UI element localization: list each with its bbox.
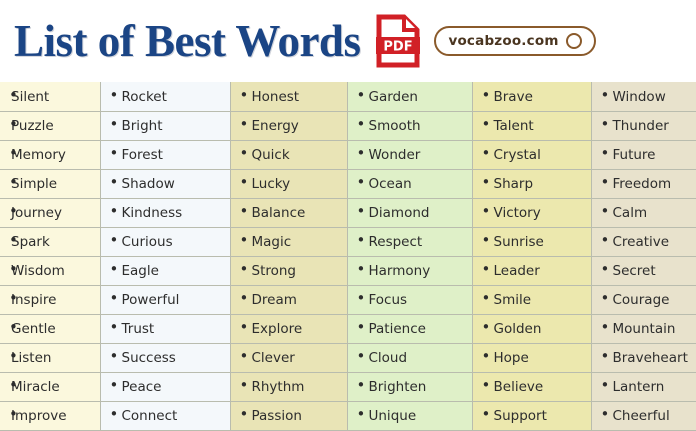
bullet-icon: •: [482, 291, 494, 306]
bullet-icon: •: [601, 146, 613, 161]
word-cell: •Sunrise: [472, 227, 591, 256]
word-label: Calm: [613, 205, 648, 221]
table-row: •Puzzle•Bright•Energy•Smooth•Talent•Thun…: [0, 111, 696, 140]
word-label: Bright: [122, 118, 163, 134]
bullet-icon: •: [482, 204, 494, 219]
word-cell: •Magic: [230, 227, 347, 256]
word-label: Hope: [494, 350, 529, 366]
bullet-icon: •: [110, 291, 122, 306]
word-cell: •Harmony: [347, 256, 472, 285]
word-label: Thunder: [613, 118, 669, 134]
word-label: Ocean: [369, 176, 412, 192]
word-label: Clever: [252, 350, 295, 366]
word-cell: •Smooth: [347, 111, 472, 140]
bullet-icon: •: [601, 233, 613, 248]
word-label: Talent: [494, 118, 534, 134]
bullet-icon: •: [357, 291, 369, 306]
word-cell: •Sharp: [472, 169, 591, 198]
bullet-icon: •: [240, 349, 252, 364]
word-cell: •Courage: [591, 285, 696, 314]
bullet-icon: •: [110, 117, 122, 132]
bullet-icon: •: [601, 291, 613, 306]
bullet-icon: •: [110, 320, 122, 335]
word-cell: •Smile: [472, 285, 591, 314]
word-label: Curious: [122, 234, 173, 250]
word-cell: •Explore: [230, 314, 347, 343]
bullet-icon: •: [110, 146, 122, 161]
word-label: Patience: [369, 321, 426, 337]
word-label: Improve: [11, 408, 67, 424]
word-label: Puzzle: [11, 118, 54, 134]
word-label: Crystal: [494, 147, 541, 163]
word-cell: •Thunder: [591, 111, 696, 140]
word-label: Rhythm: [252, 379, 305, 395]
word-cell: •Rocket: [100, 82, 230, 111]
word-cell: •Window: [591, 82, 696, 111]
word-label: Success: [122, 350, 176, 366]
page-header: List of Best Words PDF vocabzoo.com: [0, 0, 696, 82]
word-label: Rocket: [122, 89, 167, 105]
word-cell: •Calm: [591, 198, 696, 227]
word-label: Trust: [122, 321, 155, 337]
word-label: Lantern: [613, 379, 665, 395]
word-cell: •Rhythm: [230, 372, 347, 401]
word-cell: •Journey: [0, 198, 100, 227]
bullet-icon: •: [110, 349, 122, 364]
word-label: Unique: [369, 408, 417, 424]
word-cell: •Ocean: [347, 169, 472, 198]
bullet-icon: •: [240, 320, 252, 335]
bullet-icon: •: [357, 262, 369, 277]
word-cell: •Hope: [472, 343, 591, 372]
word-cell: •Energy: [230, 111, 347, 140]
bullet-icon: •: [601, 378, 613, 393]
word-label: Diamond: [369, 205, 430, 221]
word-cell: •Brave: [472, 82, 591, 111]
word-cell: •Lucky: [230, 169, 347, 198]
word-label: Passion: [252, 408, 302, 424]
word-cell: •Forest: [100, 140, 230, 169]
table-row: •Improve•Connect•Passion•Unique•Support•…: [0, 401, 696, 430]
word-label: Focus: [369, 292, 408, 308]
word-cell: •Eagle: [100, 256, 230, 285]
bullet-icon: •: [601, 175, 613, 190]
word-label: Secret: [613, 263, 656, 279]
word-cell: •Puzzle: [0, 111, 100, 140]
word-label: Journey: [11, 205, 62, 221]
bullet-icon: •: [240, 407, 252, 422]
word-label: Cloud: [369, 350, 408, 366]
word-cell: •Balance: [230, 198, 347, 227]
bullet-icon: •: [240, 204, 252, 219]
word-label: Silent: [11, 89, 49, 105]
word-cell: •Curious: [100, 227, 230, 256]
word-label: Powerful: [122, 292, 180, 308]
bullet-icon: •: [601, 117, 613, 132]
words-table-body: •Silent•Rocket•Honest•Garden•Brave•Windo…: [0, 82, 696, 430]
bullet-icon: •: [240, 117, 252, 132]
bullet-icon: •: [601, 320, 613, 335]
word-cell: •Creative: [591, 227, 696, 256]
bullet-icon: •: [240, 291, 252, 306]
word-cell: •Crystal: [472, 140, 591, 169]
word-label: Support: [494, 408, 547, 424]
bullet-icon: •: [357, 146, 369, 161]
word-cell: •Cloud: [347, 343, 472, 372]
bullet-icon: •: [240, 233, 252, 248]
word-cell: •Improve: [0, 401, 100, 430]
word-label: Smile: [494, 292, 532, 308]
word-cell: •Silent: [0, 82, 100, 111]
brand-badge[interactable]: vocabzoo.com: [434, 26, 595, 56]
word-label: Harmony: [369, 263, 431, 279]
table-row: •Listen•Success•Clever•Cloud•Hope•Braveh…: [0, 343, 696, 372]
pdf-badge-label: PDF: [384, 40, 413, 55]
word-label: Respect: [369, 234, 423, 250]
word-cell: •Freedom: [591, 169, 696, 198]
word-cell: •Believe: [472, 372, 591, 401]
word-label: Listen: [11, 350, 51, 366]
page-title: List of Best Words: [14, 19, 360, 64]
word-label: Garden: [369, 89, 418, 105]
word-cell: •Bright: [100, 111, 230, 140]
bullet-icon: •: [240, 175, 252, 190]
word-cell: •Peace: [100, 372, 230, 401]
word-label: Connect: [122, 408, 178, 424]
table-row: •Silent•Rocket•Honest•Garden•Brave•Windo…: [0, 82, 696, 111]
bullet-icon: •: [357, 349, 369, 364]
bullet-icon: •: [110, 88, 122, 103]
bullet-icon: •: [482, 88, 494, 103]
bullet-icon: •: [110, 233, 122, 248]
word-label: Victory: [494, 205, 541, 221]
bullet-icon: •: [482, 233, 494, 248]
word-label: Mountain: [613, 321, 676, 337]
word-cell: •Future: [591, 140, 696, 169]
word-cell: •Wisdom: [0, 256, 100, 285]
word-label: Window: [613, 89, 666, 105]
word-cell: •Victory: [472, 198, 591, 227]
table-row: •Memory•Forest•Quick•Wonder•Crystal•Futu…: [0, 140, 696, 169]
bullet-icon: •: [240, 262, 252, 277]
bullet-icon: •: [357, 320, 369, 335]
word-cell: •Kindness: [100, 198, 230, 227]
bullet-icon: •: [357, 378, 369, 393]
word-cell: •Patience: [347, 314, 472, 343]
word-label: Braveheart: [613, 350, 688, 366]
word-label: Kindness: [122, 205, 183, 221]
word-cell: •Golden: [472, 314, 591, 343]
word-cell: •Lantern: [591, 372, 696, 401]
word-cell: •Wonder: [347, 140, 472, 169]
word-cell: •Garden: [347, 82, 472, 111]
word-label: Brave: [494, 89, 533, 105]
word-label: Wisdom: [11, 263, 65, 279]
word-cell: •Connect: [100, 401, 230, 430]
pdf-file-icon[interactable]: PDF: [376, 14, 420, 68]
table-row: •Journey•Kindness•Balance•Diamond•Victor…: [0, 198, 696, 227]
bullet-icon: •: [357, 175, 369, 190]
word-cell: •Brighten: [347, 372, 472, 401]
word-label: Balance: [252, 205, 306, 221]
word-cell: •Spark: [0, 227, 100, 256]
word-cell: •Clever: [230, 343, 347, 372]
word-cell: •Secret: [591, 256, 696, 285]
word-label: Wonder: [369, 147, 421, 163]
word-label: Smooth: [369, 118, 421, 134]
word-cell: •Memory: [0, 140, 100, 169]
word-label: Golden: [494, 321, 542, 337]
word-label: Courage: [613, 292, 670, 308]
word-cell: •Mountain: [591, 314, 696, 343]
word-label: Dream: [252, 292, 297, 308]
word-cell: •Powerful: [100, 285, 230, 314]
word-cell: •Focus: [347, 285, 472, 314]
bullet-icon: •: [110, 378, 122, 393]
word-cell: •Respect: [347, 227, 472, 256]
word-label: Gentle: [11, 321, 56, 337]
word-label: Peace: [122, 379, 162, 395]
table-row: •Simple•Shadow•Lucky•Ocean•Sharp•Freedom: [0, 169, 696, 198]
bullet-icon: •: [110, 204, 122, 219]
bullet-icon: •: [357, 204, 369, 219]
bullet-icon: •: [601, 407, 613, 422]
bullet-icon: •: [482, 320, 494, 335]
bullet-icon: •: [357, 117, 369, 132]
word-cell: •Shadow: [100, 169, 230, 198]
word-label: Shadow: [122, 176, 175, 192]
bullet-icon: •: [357, 233, 369, 248]
word-cell: •Braveheart: [591, 343, 696, 372]
table-row: •Spark•Curious•Magic•Respect•Sunrise•Cre…: [0, 227, 696, 256]
word-label: Future: [613, 147, 656, 163]
word-cell: •Listen: [0, 343, 100, 372]
word-label: Freedom: [613, 176, 672, 192]
word-cell: •Quick: [230, 140, 347, 169]
word-cell: •Strong: [230, 256, 347, 285]
words-table: •Silent•Rocket•Honest•Garden•Brave•Windo…: [0, 82, 696, 431]
table-row: •Gentle•Trust•Explore•Patience•Golden•Mo…: [0, 314, 696, 343]
word-label: Leader: [494, 263, 540, 279]
brand-label: vocabzoo.com: [448, 33, 558, 49]
bullet-icon: •: [240, 88, 252, 103]
word-label: Brighten: [369, 379, 427, 395]
word-cell: •Support: [472, 401, 591, 430]
word-cell: •Dream: [230, 285, 347, 314]
table-row: •Miracle•Peace•Rhythm•Brighten•Believe•L…: [0, 372, 696, 401]
word-label: Creative: [613, 234, 670, 250]
word-label: Honest: [252, 89, 300, 105]
word-label: Miracle: [11, 379, 60, 395]
table-row: •Wisdom•Eagle•Strong•Harmony•Leader•Secr…: [0, 256, 696, 285]
word-label: Memory: [11, 147, 66, 163]
bullet-icon: •: [357, 88, 369, 103]
bullet-icon: •: [240, 146, 252, 161]
word-cell: •Honest: [230, 82, 347, 111]
word-label: Inspire: [11, 292, 56, 308]
bullet-icon: •: [110, 407, 122, 422]
word-label: Forest: [122, 147, 163, 163]
bullet-icon: •: [357, 407, 369, 422]
word-label: Explore: [252, 321, 303, 337]
bullet-icon: •: [482, 146, 494, 161]
bullet-icon: •: [601, 88, 613, 103]
word-label: Spark: [11, 234, 50, 250]
word-label: Magic: [252, 234, 292, 250]
bullet-icon: •: [110, 262, 122, 277]
word-cell: •Unique: [347, 401, 472, 430]
word-label: Strong: [252, 263, 297, 279]
word-cell: •Leader: [472, 256, 591, 285]
word-cell: •Miracle: [0, 372, 100, 401]
bullet-icon: •: [482, 262, 494, 277]
table-row: •Inspire•Powerful•Dream•Focus•Smile•Cour…: [0, 285, 696, 314]
bullet-icon: •: [601, 349, 613, 364]
word-label: Eagle: [122, 263, 159, 279]
word-cell: •Trust: [100, 314, 230, 343]
word-cell: •Simple: [0, 169, 100, 198]
word-label: Energy: [252, 118, 299, 134]
bullet-icon: •: [482, 407, 494, 422]
word-cell: •Talent: [472, 111, 591, 140]
bullet-icon: •: [482, 349, 494, 364]
bullet-icon: •: [601, 262, 613, 277]
word-label: Simple: [11, 176, 57, 192]
word-label: Lucky: [252, 176, 291, 192]
bullet-icon: •: [482, 117, 494, 132]
word-label: Sunrise: [494, 234, 544, 250]
brand-mark-icon: [566, 33, 582, 49]
bullet-icon: •: [240, 378, 252, 393]
word-cell: •Gentle: [0, 314, 100, 343]
word-label: Cheerful: [613, 408, 670, 424]
word-label: Believe: [494, 379, 544, 395]
word-label: Quick: [252, 147, 290, 163]
word-cell: •Diamond: [347, 198, 472, 227]
bullet-icon: •: [110, 175, 122, 190]
word-cell: •Success: [100, 343, 230, 372]
bullet-icon: •: [482, 378, 494, 393]
bullet-icon: •: [482, 175, 494, 190]
bullet-icon: •: [601, 204, 613, 219]
word-cell: •Cheerful: [591, 401, 696, 430]
word-label: Sharp: [494, 176, 534, 192]
word-cell: •Passion: [230, 401, 347, 430]
word-cell: •Inspire: [0, 285, 100, 314]
